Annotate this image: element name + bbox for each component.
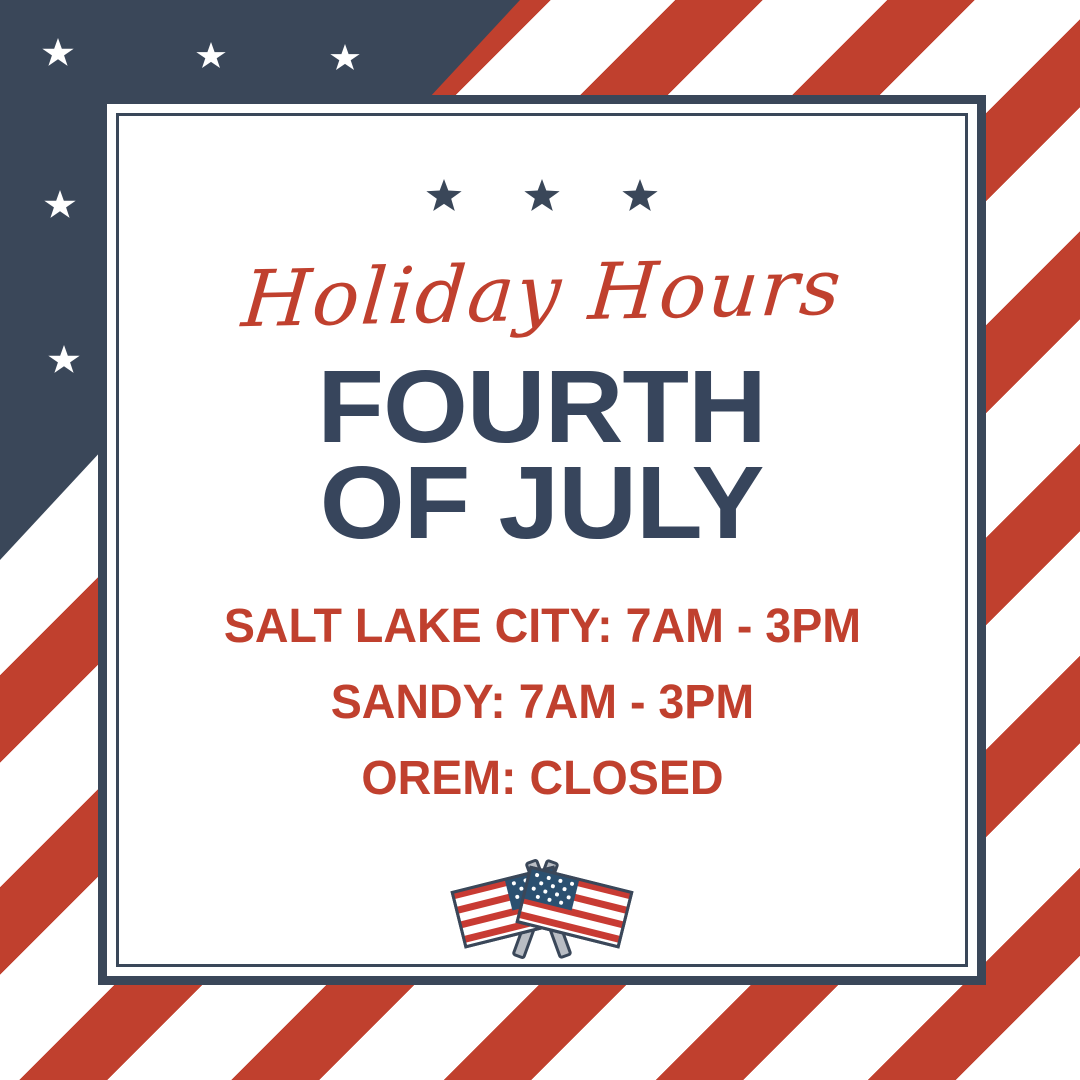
page-title: FOURTH OF JULY [318,359,766,551]
star-icon [524,179,560,213]
script-subtitle: Holiday Hours [239,249,845,340]
headline-line-2: OF JULY [318,455,766,551]
hours-line-sandy: SANDY: 7AM - 3PM [223,679,860,727]
holiday-hours-poster: Holiday Hours FOURTH OF JULY SALT LAKE C… [0,0,1080,1080]
announcement-card: Holiday Hours FOURTH OF JULY SALT LAKE C… [98,95,986,985]
headline-line-1: FOURTH [318,359,766,455]
star-icon [426,179,462,213]
hours-line-salt-lake-city: SALT LAKE CITY: 7AM - 3PM [223,603,860,651]
crossed-us-flags-icon [444,851,640,968]
hours-list: SALT LAKE CITY: 7AM - 3PM SANDY: 7AM - 3… [214,603,871,803]
hours-line-orem: OREM: CLOSED [223,755,860,803]
card-content: Holiday Hours FOURTH OF JULY SALT LAKE C… [107,104,977,976]
star-icon [622,179,658,213]
decorative-star-row [426,179,658,213]
